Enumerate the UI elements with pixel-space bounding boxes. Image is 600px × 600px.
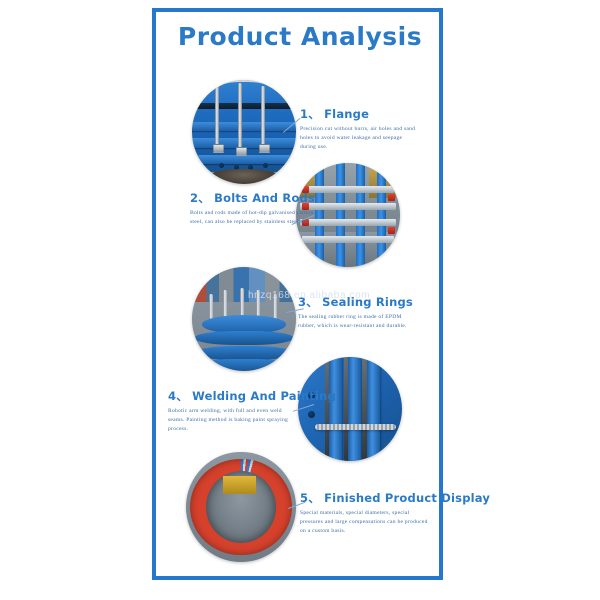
flange-base-shadow: [207, 169, 282, 184]
section-5-text-block: 5、 Finished Product Display Special mate…: [300, 490, 432, 537]
bolts-row-3: [300, 219, 396, 226]
section-1-text-block: 1、 Flange Precision cut without burrs, a…: [300, 106, 416, 153]
final-artwork: [186, 452, 296, 562]
flange-rod-3: [261, 86, 265, 146]
section-4-body: Robotic arm welding, with full and even …: [168, 407, 298, 435]
section-4-number: 4、: [168, 389, 188, 403]
flange-nut-2: [236, 147, 247, 156]
section-3-text-block: 3、 Sealing Rings The sealing rubber ring…: [298, 294, 412, 331]
flange-hole-4: [263, 163, 268, 168]
flange-rod-1: [215, 86, 219, 146]
seal-plate-2: [194, 346, 294, 360]
final-background-machine: [223, 476, 256, 494]
seal-plate-3: [194, 359, 294, 371]
bolts-row-4: [302, 236, 394, 243]
section-1-number: 1、: [300, 107, 320, 121]
weld-photo-inner: [298, 357, 402, 461]
flange-photo-inner: [192, 80, 296, 184]
welding-and-painting-photo: [298, 357, 402, 461]
section-3-body: The sealing rubber ring is made of EPDM …: [298, 313, 412, 331]
weld-fin-1: [329, 357, 342, 461]
infographic-page: Product Analysis: [0, 0, 600, 600]
section-5-heading: 5、 Finished Product Display: [300, 490, 432, 506]
section-5-body: Special materials, special diameters, sp…: [300, 509, 432, 537]
flange-nut-3: [259, 144, 270, 153]
section-4-text-block: 4、 Welding And Painting Robotic arm weld…: [168, 388, 298, 435]
weld-threaded-rod: [315, 424, 396, 430]
sealing-rings-photo: [192, 267, 296, 371]
page-title: Product Analysis: [0, 22, 600, 51]
bolts-vstrip-1: [315, 163, 324, 267]
section-2-text-block: 2、 Bolts And Rods Bolts and rods made of…: [190, 190, 314, 227]
weld-fin-3: [367, 357, 380, 461]
weld-hole-2: [308, 411, 315, 418]
section-3-heading-label: Sealing Rings: [322, 295, 413, 309]
flange-ring-lower: [192, 155, 296, 164]
section-4-heading: 4、 Welding And Painting: [168, 388, 298, 404]
section-2-heading-label: Bolts And Rods: [214, 191, 315, 205]
flange-rubber-band: [192, 103, 296, 109]
section-1-heading-label: Flange: [324, 107, 369, 121]
section-5-heading-label: Finished Product Display: [324, 491, 490, 505]
bolts-vstrip-3: [356, 163, 365, 267]
bolts-vstrip-2: [336, 163, 345, 267]
flange-artwork: [192, 80, 296, 184]
flange-rod-2: [238, 83, 242, 147]
bolts-row-1: [302, 186, 394, 193]
final-photo-inner: [186, 452, 296, 562]
section-2-number: 2、: [190, 191, 210, 205]
finished-product-photo: [186, 452, 296, 562]
seal-plate-1: [194, 331, 294, 345]
section-1-body: Precision cut without burrs, air holes a…: [300, 125, 416, 153]
section-1-heading: 1、 Flange: [300, 106, 416, 122]
flange-photo: [192, 80, 296, 184]
weld-fin-2: [348, 357, 361, 461]
flange-ring-upper: [192, 122, 296, 131]
flange-nut-1: [213, 144, 224, 153]
section-3-heading: 3、 Sealing Rings: [298, 294, 412, 310]
section-2-heading: 2、 Bolts And Rods: [190, 190, 314, 206]
section-2-body: Bolts and rods made of hot-dip galvanise…: [190, 209, 314, 227]
weld-artwork: [298, 357, 402, 461]
seal-background-clutter: [192, 267, 296, 302]
bolts-redcap-5: [388, 227, 395, 234]
bolts-redcap-4: [388, 194, 395, 201]
bolts-vstrip-4: [377, 163, 386, 267]
section-3-number: 3、: [298, 295, 318, 309]
section-5-number: 5、: [300, 491, 320, 505]
seal-photo-inner: [192, 267, 296, 371]
seal-artwork: [192, 267, 296, 371]
section-4-heading-label: Welding And Painting: [192, 389, 336, 403]
